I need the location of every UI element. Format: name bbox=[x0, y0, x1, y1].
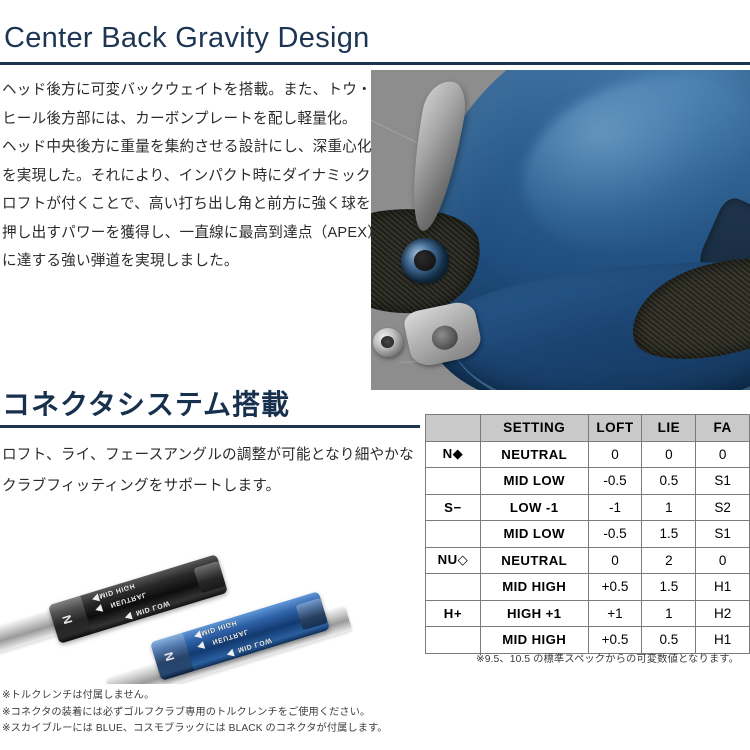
title-divider-1 bbox=[0, 62, 750, 65]
spec-table-head: SETTING LOFT LIE FA bbox=[426, 415, 750, 442]
cell-lie: 1.5 bbox=[642, 521, 696, 548]
table-row: NU◇NEUTRAL020 bbox=[426, 547, 750, 574]
cell-position: S− bbox=[426, 494, 481, 521]
product-spec-page: Center Back Gravity Design ヘッド後方に可変バックウェ… bbox=[0, 0, 750, 750]
cell-lie: 2 bbox=[642, 547, 696, 574]
cell-loft: 0 bbox=[588, 441, 642, 468]
header-fa: FA bbox=[696, 415, 750, 442]
cell-position bbox=[426, 521, 481, 548]
cell-setting: HIGH +1 bbox=[480, 600, 588, 627]
table-row: MID HIGH+0.51.5H1 bbox=[426, 574, 750, 601]
cell-position bbox=[426, 468, 481, 495]
cell-setting: MID LOW bbox=[480, 468, 588, 495]
title-divider-2 bbox=[0, 425, 420, 428]
cell-lie: 1 bbox=[642, 600, 696, 627]
footnote-line: ※コネクタの装着には必ずゴルフクラブ専用のトルクレンチをご使用ください。 bbox=[2, 705, 462, 722]
arrow-icon bbox=[196, 641, 205, 651]
connector-spec-table: SETTING LOFT LIE FA N◆NEUTRAL000MID LOW-… bbox=[425, 414, 750, 654]
cell-setting: LOW -1 bbox=[480, 494, 588, 521]
header-position bbox=[426, 415, 481, 442]
cell-fa: S1 bbox=[696, 521, 750, 548]
sleeve-tip-cap bbox=[193, 561, 225, 593]
cell-setting: NEUTRAL bbox=[480, 547, 588, 574]
table-row: N◆NEUTRAL000 bbox=[426, 441, 750, 468]
cell-position: NU◇ bbox=[426, 547, 481, 574]
cell-loft: +1 bbox=[588, 600, 642, 627]
body-line: 押し出すパワーを獲得し、一直線に最高到達点（APEX） bbox=[2, 219, 364, 248]
cell-position: N◆ bbox=[426, 441, 481, 468]
connector-sleeves-photo: N MID HIGH NEUTRAL MID LOW N MID HIGH NE… bbox=[0, 512, 410, 684]
footnote-line: ※スカイブルーには BLUE、コスモブラックには BLACK のコネクタが付属し… bbox=[2, 721, 462, 738]
body-line: を実現した。それにより、インパクト時にダイナミック bbox=[2, 162, 364, 191]
body-line: に達する強い弾道を実現しました。 bbox=[2, 247, 364, 276]
cell-setting: MID LOW bbox=[480, 521, 588, 548]
body-line: ヒール後方部には、カーボンプレートを配し軽量化。 bbox=[2, 105, 364, 134]
table-row: H+HIGH +1+11H2 bbox=[426, 600, 750, 627]
table-row: S−LOW -1-11S2 bbox=[426, 494, 750, 521]
header-setting: SETTING bbox=[480, 415, 588, 442]
cell-lie: 0 bbox=[642, 441, 696, 468]
spec-table-note: ※9.5、10.5 の標準スペックからの可変数値となります。 bbox=[476, 650, 739, 665]
cell-fa: 0 bbox=[696, 547, 750, 574]
arrow-icon bbox=[226, 649, 235, 659]
arrow-icon bbox=[94, 604, 103, 614]
cell-loft: -0.5 bbox=[588, 521, 642, 548]
section-one-body: ヘッド後方に可変バックウェイトを搭載。また、トウ・ ヒール後方部には、カーボンプ… bbox=[2, 76, 364, 276]
spec-table-container: SETTING LOFT LIE FA N◆NEUTRAL000MID LOW-… bbox=[425, 414, 750, 654]
cell-fa: H2 bbox=[696, 600, 750, 627]
product-render-driver-head bbox=[371, 70, 750, 390]
body-line: ヘッド中央後方に重量を集約させる設計にし、深重心化 bbox=[2, 133, 364, 162]
cell-fa: H1 bbox=[696, 574, 750, 601]
header-lie: LIE bbox=[642, 415, 696, 442]
body-line: ロフト、ライ、フェースアングルの調整が可能となり細やかな bbox=[2, 440, 374, 471]
cell-fa: 0 bbox=[696, 441, 750, 468]
body-line: ヘッド後方に可変バックウェイトを搭載。また、トウ・ bbox=[2, 76, 364, 105]
table-row: MID LOW-0.51.5S1 bbox=[426, 521, 750, 548]
section-title-connector-system: コネクタシステム搭載 bbox=[2, 383, 290, 423]
spec-table-body: N◆NEUTRAL000MID LOW-0.50.5S1S−LOW -1-11S… bbox=[426, 441, 750, 653]
cell-position: H+ bbox=[426, 600, 481, 627]
cell-loft: -1 bbox=[588, 494, 642, 521]
footnotes: ※トルクレンチは付属しません。 ※コネクタの装着には必ずゴルフクラブ専用のトルク… bbox=[2, 688, 462, 738]
sleeve-mark-mid-low: MID LOW bbox=[135, 599, 171, 616]
cell-lie: 1 bbox=[642, 494, 696, 521]
table-header-row: SETTING LOFT LIE FA bbox=[426, 415, 750, 442]
section-title-center-back-gravity-design: Center Back Gravity Design bbox=[4, 22, 370, 55]
arrow-icon bbox=[124, 612, 133, 622]
cell-loft: +0.5 bbox=[588, 574, 642, 601]
cell-position bbox=[426, 627, 481, 654]
cell-position bbox=[426, 574, 481, 601]
cell-loft: 0 bbox=[588, 547, 642, 574]
cell-setting: NEUTRAL bbox=[480, 441, 588, 468]
cell-lie: 1.5 bbox=[642, 574, 696, 601]
body-line: ロフトが付くことで、高い打ち出し角と前方に強く球を bbox=[2, 190, 364, 219]
body-line: クラブフィッティングをサポートします。 bbox=[2, 471, 374, 502]
header-loft: LOFT bbox=[588, 415, 642, 442]
sleeve-tip-cap bbox=[295, 598, 327, 630]
cell-lie: 0.5 bbox=[642, 468, 696, 495]
cell-fa: S1 bbox=[696, 468, 750, 495]
weight-screw-part bbox=[373, 328, 403, 357]
section-two-body: ロフト、ライ、フェースアングルの調整が可能となり細やかな クラブフィッティングを… bbox=[2, 440, 374, 502]
cell-fa: S2 bbox=[696, 494, 750, 521]
cell-loft: -0.5 bbox=[588, 468, 642, 495]
table-row: MID LOW-0.50.5S1 bbox=[426, 468, 750, 495]
footnote-line: ※トルクレンチは付属しません。 bbox=[2, 688, 462, 705]
cell-setting: MID HIGH bbox=[480, 574, 588, 601]
